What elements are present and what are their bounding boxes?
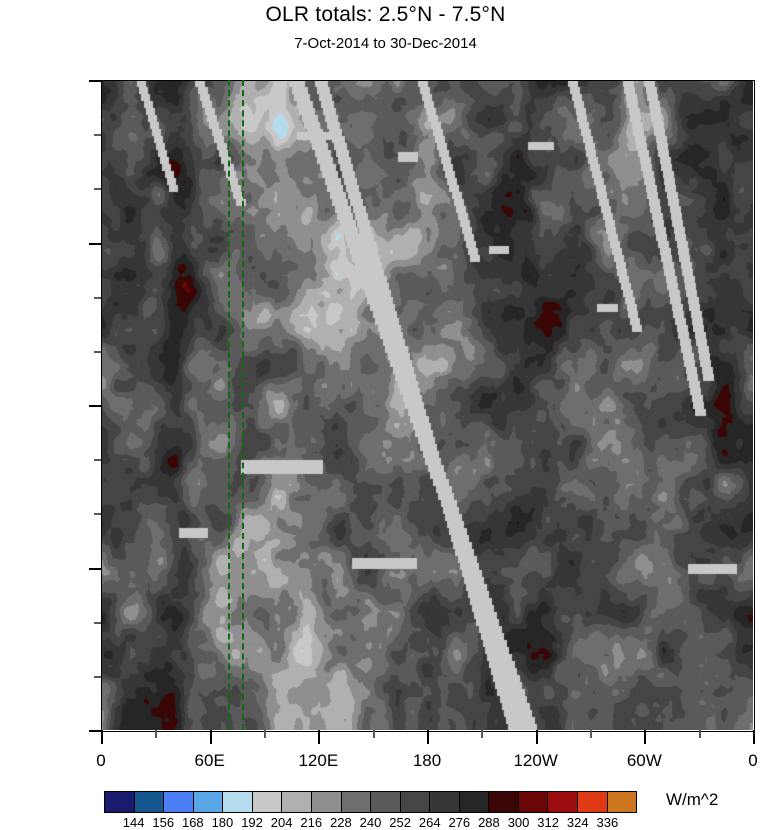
colorbar-swatch [135,792,165,812]
y-axis-minor-tick [94,676,101,678]
x-axis-label: 60W [584,752,704,770]
y-axis-major-tick [89,405,101,407]
x-axis-minor-tick [155,730,157,738]
x-axis-major-tick [318,730,320,744]
page-title: OLR totals: 2.5°N - 7.5°N [0,2,771,28]
x-axis-minor-tick [481,730,483,738]
colorbar-swatch [223,792,253,812]
x-axis-major-tick [536,730,538,744]
colorbar-units-label: W/m^2 [666,790,718,810]
x-axis-minor-tick [264,730,266,738]
x-axis-minor-tick [373,730,375,738]
x-axis-label: 180 [367,752,487,770]
x-axis-major-tick [101,730,103,744]
x-axis-minor-tick [590,730,592,738]
x-axis-major-tick [210,730,212,744]
colorbar-tick-label: 336 [577,815,637,830]
colorbar-swatch [105,792,135,812]
x-axis-label: 120W [476,752,596,770]
x-axis-label: 0 [693,752,771,770]
y-axis-minor-tick [94,134,101,136]
colorbar-swatch [519,792,549,812]
y-axis-major-tick [89,730,101,732]
y-axis-minor-tick [94,513,101,515]
colorbar-swatch [312,792,342,812]
colorbar-swatch [460,792,490,812]
x-axis-label: 0 [41,752,161,770]
colorbar-swatch [342,792,372,812]
y-axis-major-tick [89,568,101,570]
y-axis-minor-tick [94,622,101,624]
y-axis-minor-tick [94,351,101,353]
colorbar-swatch [578,792,608,812]
colorbar-swatch [548,792,578,812]
y-axis-minor-tick [94,459,101,461]
colorbar-swatch [371,792,401,812]
green-dashed-line [242,80,244,730]
plot-frame [101,80,755,732]
chart-subtitle: 7-Oct-2014 to 30-Dec-2014 [0,34,771,54]
y-axis-minor-tick [94,297,101,299]
y-axis-major-tick [89,80,101,82]
colorbar-swatch [164,792,194,812]
y-axis-minor-tick [94,188,101,190]
colorbar-swatch [282,792,312,812]
colorbar-swatch [430,792,460,812]
y-axis-major-tick [89,243,101,245]
plot-area [101,80,753,730]
colorbar-swatch [489,792,519,812]
colorbar-swatch [608,792,637,812]
colorbar-swatch [194,792,224,812]
green-dashed-line [228,80,230,730]
x-axis-minor-tick [699,730,701,738]
x-axis-major-tick [753,730,755,744]
x-axis-major-tick [644,730,646,744]
colorbar-swatch [253,792,283,812]
x-axis-label: 60E [150,752,270,770]
colorbar[interactable] [104,791,637,813]
colorbar-swatch [401,792,431,812]
x-axis-label: 120E [258,752,378,770]
x-axis-major-tick [427,730,429,744]
